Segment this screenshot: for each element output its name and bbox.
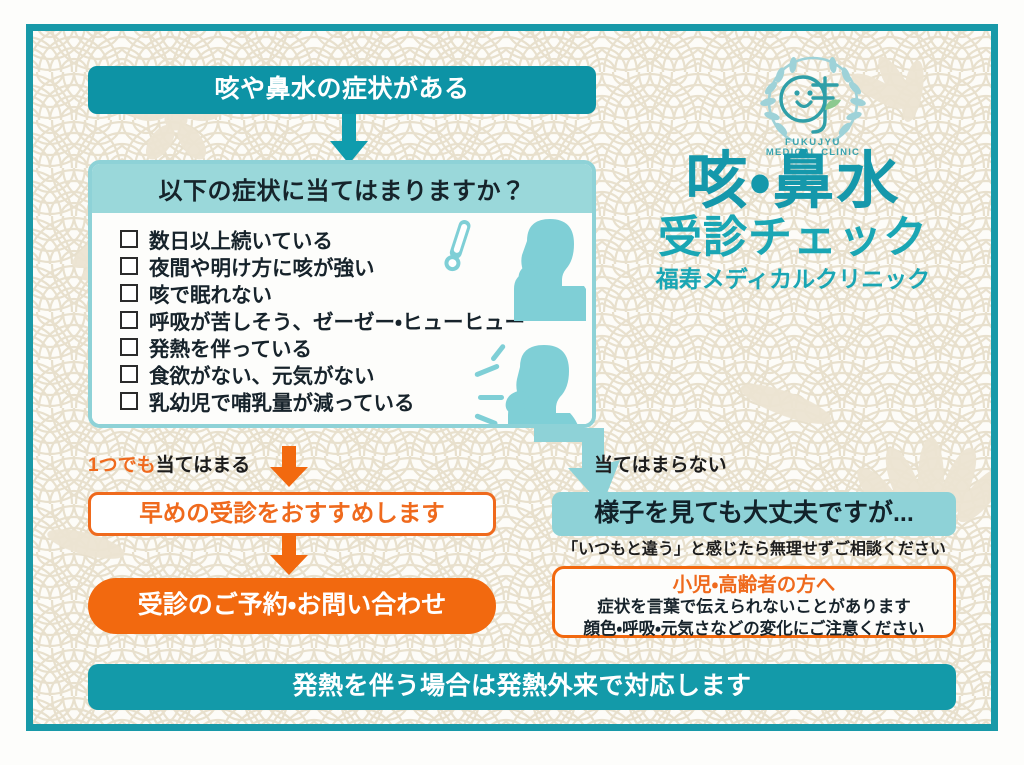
- flow-step-symptom-start: 咳や鼻水の症状がある: [88, 66, 596, 114]
- fever-outpatient-banner: 発熱を伴う場合は発熱外来で対応します: [88, 664, 956, 710]
- outcome-recommend-visit: 早めの受診をおすすめします: [88, 492, 496, 536]
- checkbox-icon[interactable]: [120, 338, 138, 356]
- branch-right-note: 「いつもと違う」と感じたら無理せずご相談ください: [552, 540, 956, 561]
- branch-right-label: 当てはまらない: [594, 450, 727, 477]
- checklist-body: 数日以上続いている 夜間や明け方に咳が強い 咳で眠れない 呼吸が苦しそう、ゼーゼ…: [92, 213, 592, 428]
- thermometer-icon: [440, 217, 476, 280]
- checkbox-icon[interactable]: [120, 284, 138, 302]
- caution-title: 小児・高齢者の方へ: [555, 573, 953, 597]
- checklist-item-label: 夜間や明け方に咳が強い: [149, 251, 375, 281]
- checklist-item-label: 呼吸が苦しそう、ゼーゼー・ヒューヒュー: [149, 305, 525, 335]
- checklist-item-label: 食欲がない、元気がない: [149, 359, 375, 389]
- branch-left-label: 1つでも当てはまる: [88, 450, 250, 477]
- poster-root: 咳や鼻水の症状がある 以下の症状に当てはまりますか？: [0, 0, 1024, 765]
- cta-booking-button[interactable]: 受診のご予約・お問い合わせ: [88, 578, 496, 634]
- caution-line-2: 顔色・呼吸・元気さなどの変化にご注意ください: [555, 619, 953, 640]
- checkbox-icon[interactable]: [120, 311, 138, 329]
- checkbox-icon[interactable]: [120, 365, 138, 383]
- coughing-person-icon: [494, 215, 586, 326]
- outcome-watch-and-wait: 様子を見ても大丈夫ですが...: [552, 492, 956, 536]
- caution-box-children-elderly: 小児・高齢者の方へ 症状を言葉で伝えられないことがあります 顔色・呼吸・元気さな…: [552, 566, 956, 638]
- title-block: 咳・鼻水 受診チェック 福寿メディカルクリニック: [612, 152, 974, 297]
- checklist-item-label: 咳で眠れない: [149, 278, 272, 308]
- checkbox-icon[interactable]: [120, 257, 138, 275]
- sneezing-person-icon: [468, 343, 586, 428]
- symptom-checklist-card: 以下の症状に当てはまりますか？: [88, 160, 596, 428]
- checklist-item-label: 数日以上続いている: [149, 224, 333, 254]
- page-subtitle: 受診チェック: [612, 213, 974, 262]
- arrow-down-icon: [266, 534, 312, 576]
- checkbox-icon[interactable]: [120, 392, 138, 410]
- checklist-item-label: 乳幼児で哺乳量が減っている: [149, 386, 414, 416]
- clinic-logo: FUKUJYU MEDICAL CLINIC: [753, 52, 873, 160]
- checkbox-icon[interactable]: [120, 230, 138, 248]
- page-title: 咳・鼻水: [612, 152, 974, 213]
- branch-left-label-highlight: 1つでも: [88, 455, 156, 476]
- checklist-heading: 以下の症状に当てはまりますか？: [92, 164, 592, 213]
- branch-left-label-rest: 当てはまる: [156, 455, 251, 476]
- checklist-item-label: 発熱を伴っている: [149, 332, 312, 362]
- arrow-down-icon: [266, 446, 312, 488]
- clinic-name-label: 福寿メディカルクリニック: [612, 262, 974, 297]
- caution-line-1: 症状を言葉で伝えられないことがあります: [555, 597, 953, 618]
- arrow-down-icon: [323, 114, 375, 166]
